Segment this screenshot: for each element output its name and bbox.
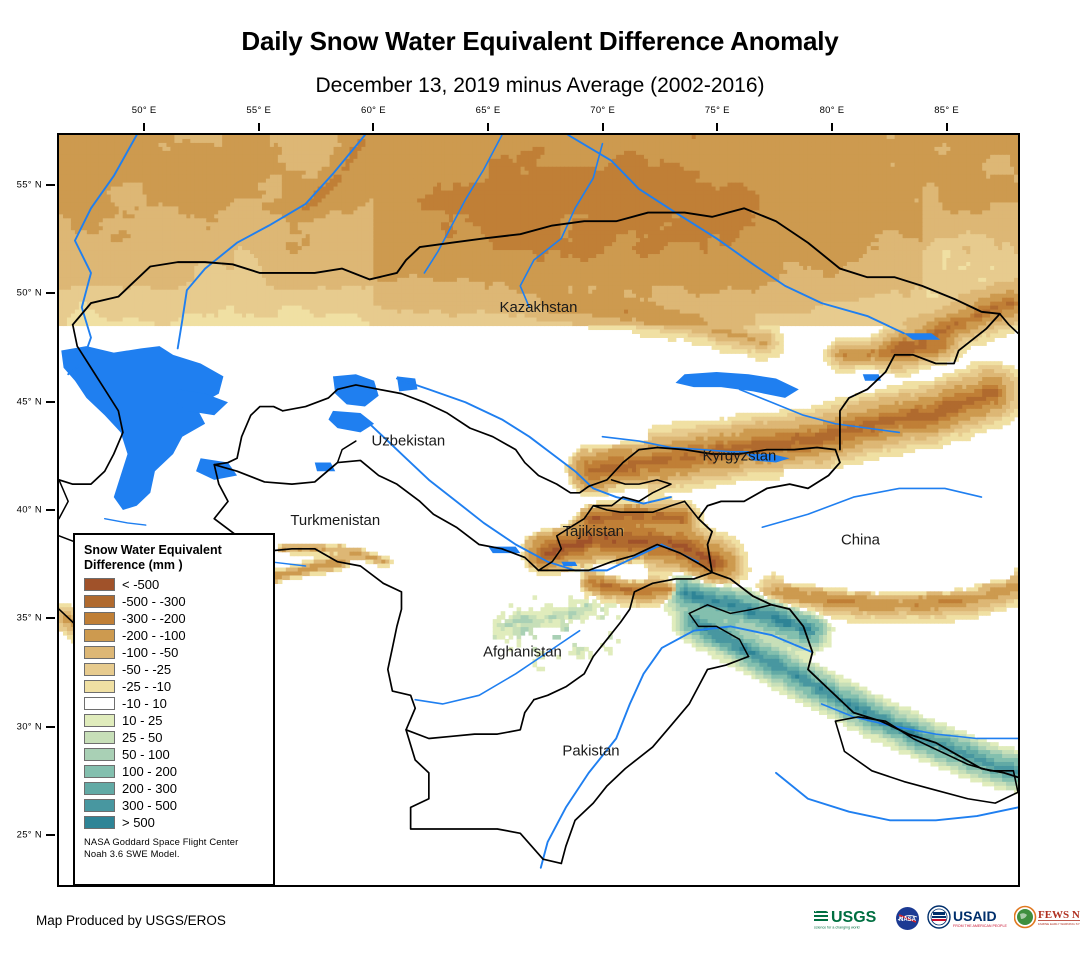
legend-swatch — [84, 731, 115, 744]
legend-swatch — [84, 680, 115, 693]
legend-row: 25 - 50 — [84, 729, 265, 746]
legend-row: -10 - 10 — [84, 695, 265, 712]
legend-entries: < -500-500 - -300-300 - -200-200 - -100-… — [84, 576, 265, 831]
legend-label: -25 - -10 — [122, 680, 171, 693]
legend-row: 200 - 300 — [84, 780, 265, 797]
legend-swatch — [84, 799, 115, 812]
legend-label: 100 - 200 — [122, 765, 177, 778]
legend-source-line2: Noah 3.6 SWE Model. — [84, 848, 265, 860]
lat-label-40: 40° N — [2, 505, 42, 516]
fewsnet-logo: FEWS NETFAMINE EARLY WARNING SYSTEMS NET… — [1014, 905, 1080, 931]
legend-swatch — [84, 646, 115, 659]
legend-label: 200 - 300 — [122, 782, 177, 795]
lon-label-50: 50° E — [132, 105, 157, 116]
lat-label-25: 25° N — [2, 830, 42, 841]
legend-swatch — [84, 816, 115, 829]
legend-title-line2: Difference (mm ) — [84, 558, 265, 573]
country-label: Kyrgyzstan — [703, 447, 777, 464]
page-subtitle: December 13, 2019 minus Average (2002-20… — [0, 74, 1080, 98]
lon-label-55: 55° E — [246, 105, 271, 116]
lat-tick-35 — [46, 617, 55, 619]
map-credit: Map Produced by USGS/EROS — [36, 913, 226, 928]
lat-label-55: 55° N — [2, 180, 42, 191]
legend-swatch — [84, 748, 115, 761]
lat-label-45: 45° N — [2, 396, 42, 407]
lat-label-30: 30° N — [2, 721, 42, 732]
lon-tick-85 — [946, 123, 948, 131]
country-label: Afghanistan — [483, 644, 562, 661]
lat-tick-55 — [46, 184, 55, 186]
legend-swatch — [84, 765, 115, 778]
map-page: Daily Snow Water Equivalent Difference A… — [0, 0, 1080, 960]
lat-tick-30 — [46, 726, 55, 728]
legend-label: -500 - -300 — [122, 595, 186, 608]
legend-label: 50 - 100 — [122, 748, 170, 761]
legend-swatch — [84, 697, 115, 710]
map-legend: Snow Water Equivalent Difference (mm ) <… — [73, 533, 275, 886]
legend-row: 300 - 500 — [84, 797, 265, 814]
legend-row: -500 - -300 — [84, 593, 265, 610]
lon-tick-55 — [258, 123, 260, 131]
legend-label: -100 - -50 — [122, 646, 178, 659]
lon-label-65: 65° E — [476, 105, 501, 116]
legend-swatch — [84, 714, 115, 727]
country-label: Turkmenistan — [290, 512, 380, 529]
legend-swatch — [84, 782, 115, 795]
legend-label: < -500 — [122, 578, 159, 591]
usaid-logo: USAIDFROM THE AMERICAN PEOPLE — [927, 905, 1007, 931]
usgs-logo: USGSscience for a changing world — [812, 905, 888, 931]
legend-swatch — [84, 629, 115, 642]
lon-label-75: 75° E — [705, 105, 730, 116]
country-label: Pakistan — [562, 743, 619, 760]
lat-tick-25 — [46, 834, 55, 836]
lon-label-60: 60° E — [361, 105, 386, 116]
legend-row: -300 - -200 — [84, 610, 265, 627]
logo-bar: USGSscience for a changing worldNASAUSAI… — [812, 901, 1080, 935]
legend-row: < -500 — [84, 576, 265, 593]
lon-tick-50 — [143, 123, 145, 131]
lon-tick-80 — [831, 123, 833, 131]
legend-swatch — [84, 578, 115, 591]
legend-row: 100 - 200 — [84, 763, 265, 780]
lon-tick-65 — [487, 123, 489, 131]
legend-row: -50 - -25 — [84, 661, 265, 678]
legend-label: > 500 — [122, 816, 155, 829]
lat-label-35: 35° N — [2, 613, 42, 624]
lat-label-50: 50° N — [2, 288, 42, 299]
lon-tick-75 — [716, 123, 718, 131]
legend-source: NASA Goddard Space Flight Center Noah 3.… — [84, 836, 265, 859]
country-label: Uzbekistan — [371, 432, 445, 449]
legend-title-line1: Snow Water Equivalent — [84, 543, 265, 558]
legend-swatch — [84, 612, 115, 625]
legend-row: > 500 — [84, 814, 265, 831]
legend-label: -10 - 10 — [122, 697, 167, 710]
legend-label: 300 - 500 — [122, 799, 177, 812]
legend-label: -300 - -200 — [122, 612, 186, 625]
country-label: Tajikistan — [563, 523, 624, 540]
legend-row: -100 - -50 — [84, 644, 265, 661]
legend-source-line1: NASA Goddard Space Flight Center — [84, 836, 265, 848]
lon-tick-70 — [602, 123, 604, 131]
lon-label-80: 80° E — [820, 105, 845, 116]
legend-label: 25 - 50 — [122, 731, 162, 744]
legend-swatch — [84, 595, 115, 608]
legend-row: 10 - 25 — [84, 712, 265, 729]
lon-label-70: 70° E — [590, 105, 615, 116]
legend-swatch — [84, 663, 115, 676]
nasa-logo: NASA — [895, 905, 920, 931]
lat-tick-40 — [46, 509, 55, 511]
lat-tick-45 — [46, 401, 55, 403]
legend-label: 10 - 25 — [122, 714, 162, 727]
lon-label-85: 85° E — [934, 105, 959, 116]
lat-tick-50 — [46, 292, 55, 294]
legend-row: 50 - 100 — [84, 746, 265, 763]
country-label: China — [841, 532, 881, 549]
legend-title: Snow Water Equivalent Difference (mm ) — [84, 543, 265, 572]
legend-row: -25 - -10 — [84, 678, 265, 695]
country-label: Kazakhstan — [500, 299, 578, 316]
legend-label: -50 - -25 — [122, 663, 171, 676]
lon-tick-60 — [372, 123, 374, 131]
page-title: Daily Snow Water Equivalent Difference A… — [0, 26, 1080, 57]
legend-label: -200 - -100 — [122, 629, 186, 642]
legend-row: -200 - -100 — [84, 627, 265, 644]
